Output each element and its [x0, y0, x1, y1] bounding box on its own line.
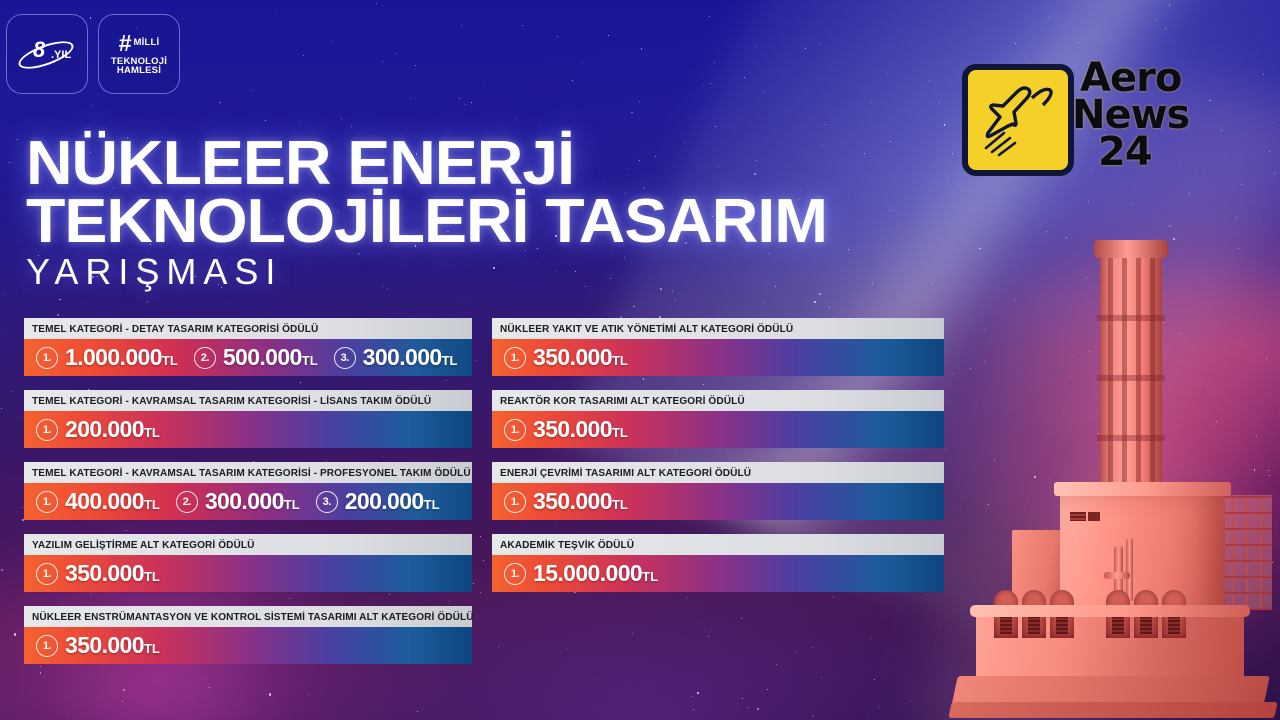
plant-podium: [976, 612, 1244, 682]
award-item: TEMEL KATEGORİ - KAVRAMSAL TASARIM KATEG…: [24, 390, 472, 448]
prize-amount: 300.000TL: [205, 488, 300, 515]
award-prize-bar: 1.1.000.000TL2.500.000TL3.300.000TL: [24, 339, 472, 376]
prize-amount: 200.000TL: [65, 416, 160, 443]
plant-podium-roof: [970, 605, 1250, 617]
prize-currency: TL: [284, 497, 300, 512]
award-title-bar: TEMEL KATEGORİ - KAVRAMSAL TASARIM KATEG…: [24, 462, 472, 483]
rank-label: 1.: [43, 568, 51, 580]
award-item: REAKTÖR KOR TASARIMI ALT KATEGORİ ÖDÜLÜ1…: [492, 390, 944, 448]
prize-amount: 350.000TL: [65, 560, 160, 587]
reactor-tower-cap: [1094, 240, 1168, 258]
prize-currency: TL: [162, 353, 178, 368]
rank-label: 3.: [323, 496, 331, 508]
rank-badge: 1.: [36, 491, 58, 513]
prize-amount: 350.000TL: [533, 488, 628, 515]
rank-label: 2.: [183, 496, 191, 508]
award-title: ENERJİ ÇEVRİMİ TASARIMI ALT KATEGORİ ÖDÜ…: [500, 467, 751, 479]
award-prize-bar: 1.350.000TL: [492, 411, 944, 448]
prize-amount: 350.000TL: [65, 632, 160, 659]
award-title: REAKTÖR KOR TASARIMI ALT KATEGORİ ÖDÜLÜ: [500, 395, 745, 407]
prize-amount: 400.000TL: [65, 488, 160, 515]
award-title: TEMEL KATEGORİ - DETAY TASARIM KATEGORİS…: [32, 323, 318, 335]
award-title-bar: YAZILIM GELİŞTİRME ALT KATEGORİ ÖDÜLÜ: [24, 534, 472, 555]
award-prize-bar: 1.15.000.000TL: [492, 555, 944, 592]
rank-badge: 2.: [176, 491, 198, 513]
prize-currency: TL: [612, 497, 628, 512]
brand-badges: 8 .YIL # MİLLİ TEKNOLOJİ HAMLESİ: [6, 14, 180, 94]
award-item: TEMEL KATEGORİ - DETAY TASARIM KATEGORİS…: [24, 318, 472, 376]
award-item: YAZILIM GELİŞTİRME ALT KATEGORİ ÖDÜLÜ1.3…: [24, 534, 472, 592]
award-title-bar: NÜKLEER ENSTRÜMANTASYON VE KONTROL SİSTE…: [24, 606, 472, 627]
yil-suffix: .YIL: [51, 49, 71, 61]
watermark-line3: 24: [1098, 134, 1189, 171]
plant-base-slab-shadow: [948, 702, 1277, 718]
awards-column-left: TEMEL KATEGORİ - DETAY TASARIM KATEGORİS…: [24, 318, 472, 678]
rank-badge: 3.: [316, 491, 338, 513]
prize-amount: 350.000TL: [533, 344, 628, 371]
award-title: YAZILIM GELİŞTİRME ALT KATEGORİ ÖDÜLÜ: [32, 539, 255, 551]
prize-entry: 2.500.000TL: [194, 344, 318, 371]
plant-main-block-roof: [1054, 482, 1231, 496]
award-prize-bar: 1.350.000TL: [492, 483, 944, 520]
award-title-bar: REAKTÖR KOR TASARIMI ALT KATEGORİ ÖDÜLÜ: [492, 390, 944, 411]
award-item: TEMEL KATEGORİ - KAVRAMSAL TASARIM KATEG…: [24, 462, 472, 520]
prize-amount: 300.000TL: [363, 344, 458, 371]
prize-entry: 3.200.000TL: [316, 488, 440, 515]
8-yil-logo: 8 .YIL: [6, 14, 88, 94]
aeronews24-watermark: Aero News 24: [962, 64, 1189, 176]
award-title-bar: TEMEL KATEGORİ - KAVRAMSAL TASARIM KATEG…: [24, 390, 472, 411]
hash-icon: #: [119, 32, 131, 55]
title-line-2: TEKNOLOJİLERİ TASARIM: [26, 194, 827, 250]
award-prize-bar: 1.200.000TL: [24, 411, 472, 448]
rank-badge: 1.: [504, 419, 526, 441]
award-title-bar: ENERJİ ÇEVRİMİ TASARIMI ALT KATEGORİ ÖDÜ…: [492, 462, 944, 483]
title-line-1: NÜKLEER ENERJİ: [26, 136, 827, 192]
page-title: NÜKLEER ENERJİ TEKNOLOJİLERİ TASARIM YAR…: [26, 136, 796, 288]
milli-line1: MİLLİ: [133, 38, 159, 48]
prize-amount: 200.000TL: [345, 488, 440, 515]
rank-label: 3.: [341, 352, 349, 364]
prize-entry: 1.400.000TL: [36, 488, 160, 515]
milli-teknoloji-hamlesi-logo: # MİLLİ TEKNOLOJİ HAMLESİ: [98, 14, 180, 94]
watermark-logo-box: [962, 64, 1074, 176]
prize-entry: 1.350.000TL: [504, 344, 628, 371]
rank-badge: 1.: [36, 347, 58, 369]
award-prize-bar: 1.350.000TL: [24, 555, 472, 592]
prize-entry: 1.350.000TL: [504, 416, 628, 443]
award-prize-bar: 1.350.000TL: [24, 627, 472, 664]
milli-line3: HAMLESİ: [111, 66, 167, 76]
prize-entry: 2.300.000TL: [176, 488, 300, 515]
rank-badge: 2.: [194, 347, 216, 369]
rank-label: 1.: [43, 352, 51, 364]
award-title: TEMEL KATEGORİ - KAVRAMSAL TASARIM KATEG…: [32, 395, 431, 407]
prize-currency: TL: [302, 353, 318, 368]
rank-label: 1.: [511, 568, 519, 580]
prize-currency: TL: [424, 497, 440, 512]
prize-entry: 1.1.000.000TL: [36, 344, 178, 371]
prize-amount: 15.000.000TL: [533, 560, 658, 587]
award-title: NÜKLEER YAKIT VE ATIK YÖNETİMİ ALT KATEG…: [500, 323, 793, 335]
rank-label: 1.: [43, 424, 51, 436]
rank-label: 2.: [201, 352, 209, 364]
award-title-bar: TEMEL KATEGORİ - DETAY TASARIM KATEGORİS…: [24, 318, 472, 339]
rank-label: 1.: [511, 424, 519, 436]
prize-currency: TL: [612, 353, 628, 368]
nuclear-power-plant-render: [950, 200, 1280, 720]
award-item: AKADEMİK TEŞVİK ÖDÜLÜ1.15.000.000TL: [492, 534, 944, 592]
award-title: TEMEL KATEGORİ - KAVRAMSAL TASARIM KATEG…: [32, 467, 471, 479]
award-title-bar: AKADEMİK TEŞVİK ÖDÜLÜ: [492, 534, 944, 555]
reactor-tower: [1100, 255, 1162, 515]
yil-number: 8: [33, 37, 44, 63]
rank-badge: 1.: [36, 419, 58, 441]
rank-label: 1.: [43, 496, 51, 508]
prize-currency: TL: [642, 569, 658, 584]
prize-currency: TL: [144, 425, 160, 440]
airplane-icon: [978, 78, 1062, 162]
award-item: ENERJİ ÇEVRİMİ TASARIMI ALT KATEGORİ ÖDÜ…: [492, 462, 944, 520]
prize-entry: 1.350.000TL: [36, 632, 160, 659]
rank-badge: 1.: [504, 491, 526, 513]
plant-scaffold: [1218, 495, 1272, 610]
prize-entry: 1.200.000TL: [36, 416, 160, 443]
prize-entry: 3.300.000TL: [334, 344, 458, 371]
award-prize-bar: 1.400.000TL2.300.000TL3.200.000TL: [24, 483, 472, 520]
rank-badge: 1.: [36, 563, 58, 585]
award-title-bar: NÜKLEER YAKIT VE ATIK YÖNETİMİ ALT KATEG…: [492, 318, 944, 339]
title-line-3: YARIŞMASI: [26, 256, 796, 288]
prize-amount: 1.000.000TL: [65, 344, 178, 371]
award-item: NÜKLEER ENSTRÜMANTASYON VE KONTROL SİSTE…: [24, 606, 472, 664]
rank-badge: 1.: [504, 563, 526, 585]
prize-currency: TL: [144, 497, 160, 512]
prize-currency: TL: [144, 641, 160, 656]
rank-label: 1.: [511, 352, 519, 364]
prize-currency: TL: [442, 353, 458, 368]
award-item: NÜKLEER YAKIT VE ATIK YÖNETİMİ ALT KATEG…: [492, 318, 944, 376]
prize-amount: 350.000TL: [533, 416, 628, 443]
award-prize-bar: 1.350.000TL: [492, 339, 944, 376]
prize-amount: 500.000TL: [223, 344, 318, 371]
rank-badge: 3.: [334, 347, 356, 369]
award-title: NÜKLEER ENSTRÜMANTASYON VE KONTROL SİSTE…: [32, 611, 474, 623]
rank-badge: 1.: [504, 347, 526, 369]
rank-label: 1.: [43, 640, 51, 652]
prize-currency: TL: [612, 425, 628, 440]
poster-stage: 8 .YIL # MİLLİ TEKNOLOJİ HAMLESİ: [0, 0, 1280, 720]
awards-column-right: NÜKLEER YAKIT VE ATIK YÖNETİMİ ALT KATEG…: [492, 318, 944, 606]
rank-label: 1.: [511, 496, 519, 508]
prize-entry: 1.350.000TL: [36, 560, 160, 587]
prize-currency: TL: [144, 569, 160, 584]
prize-entry: 1.15.000.000TL: [504, 560, 658, 587]
award-title: AKADEMİK TEŞVİK ÖDÜLÜ: [500, 539, 634, 551]
prize-entry: 1.350.000TL: [504, 488, 628, 515]
rank-badge: 1.: [36, 635, 58, 657]
